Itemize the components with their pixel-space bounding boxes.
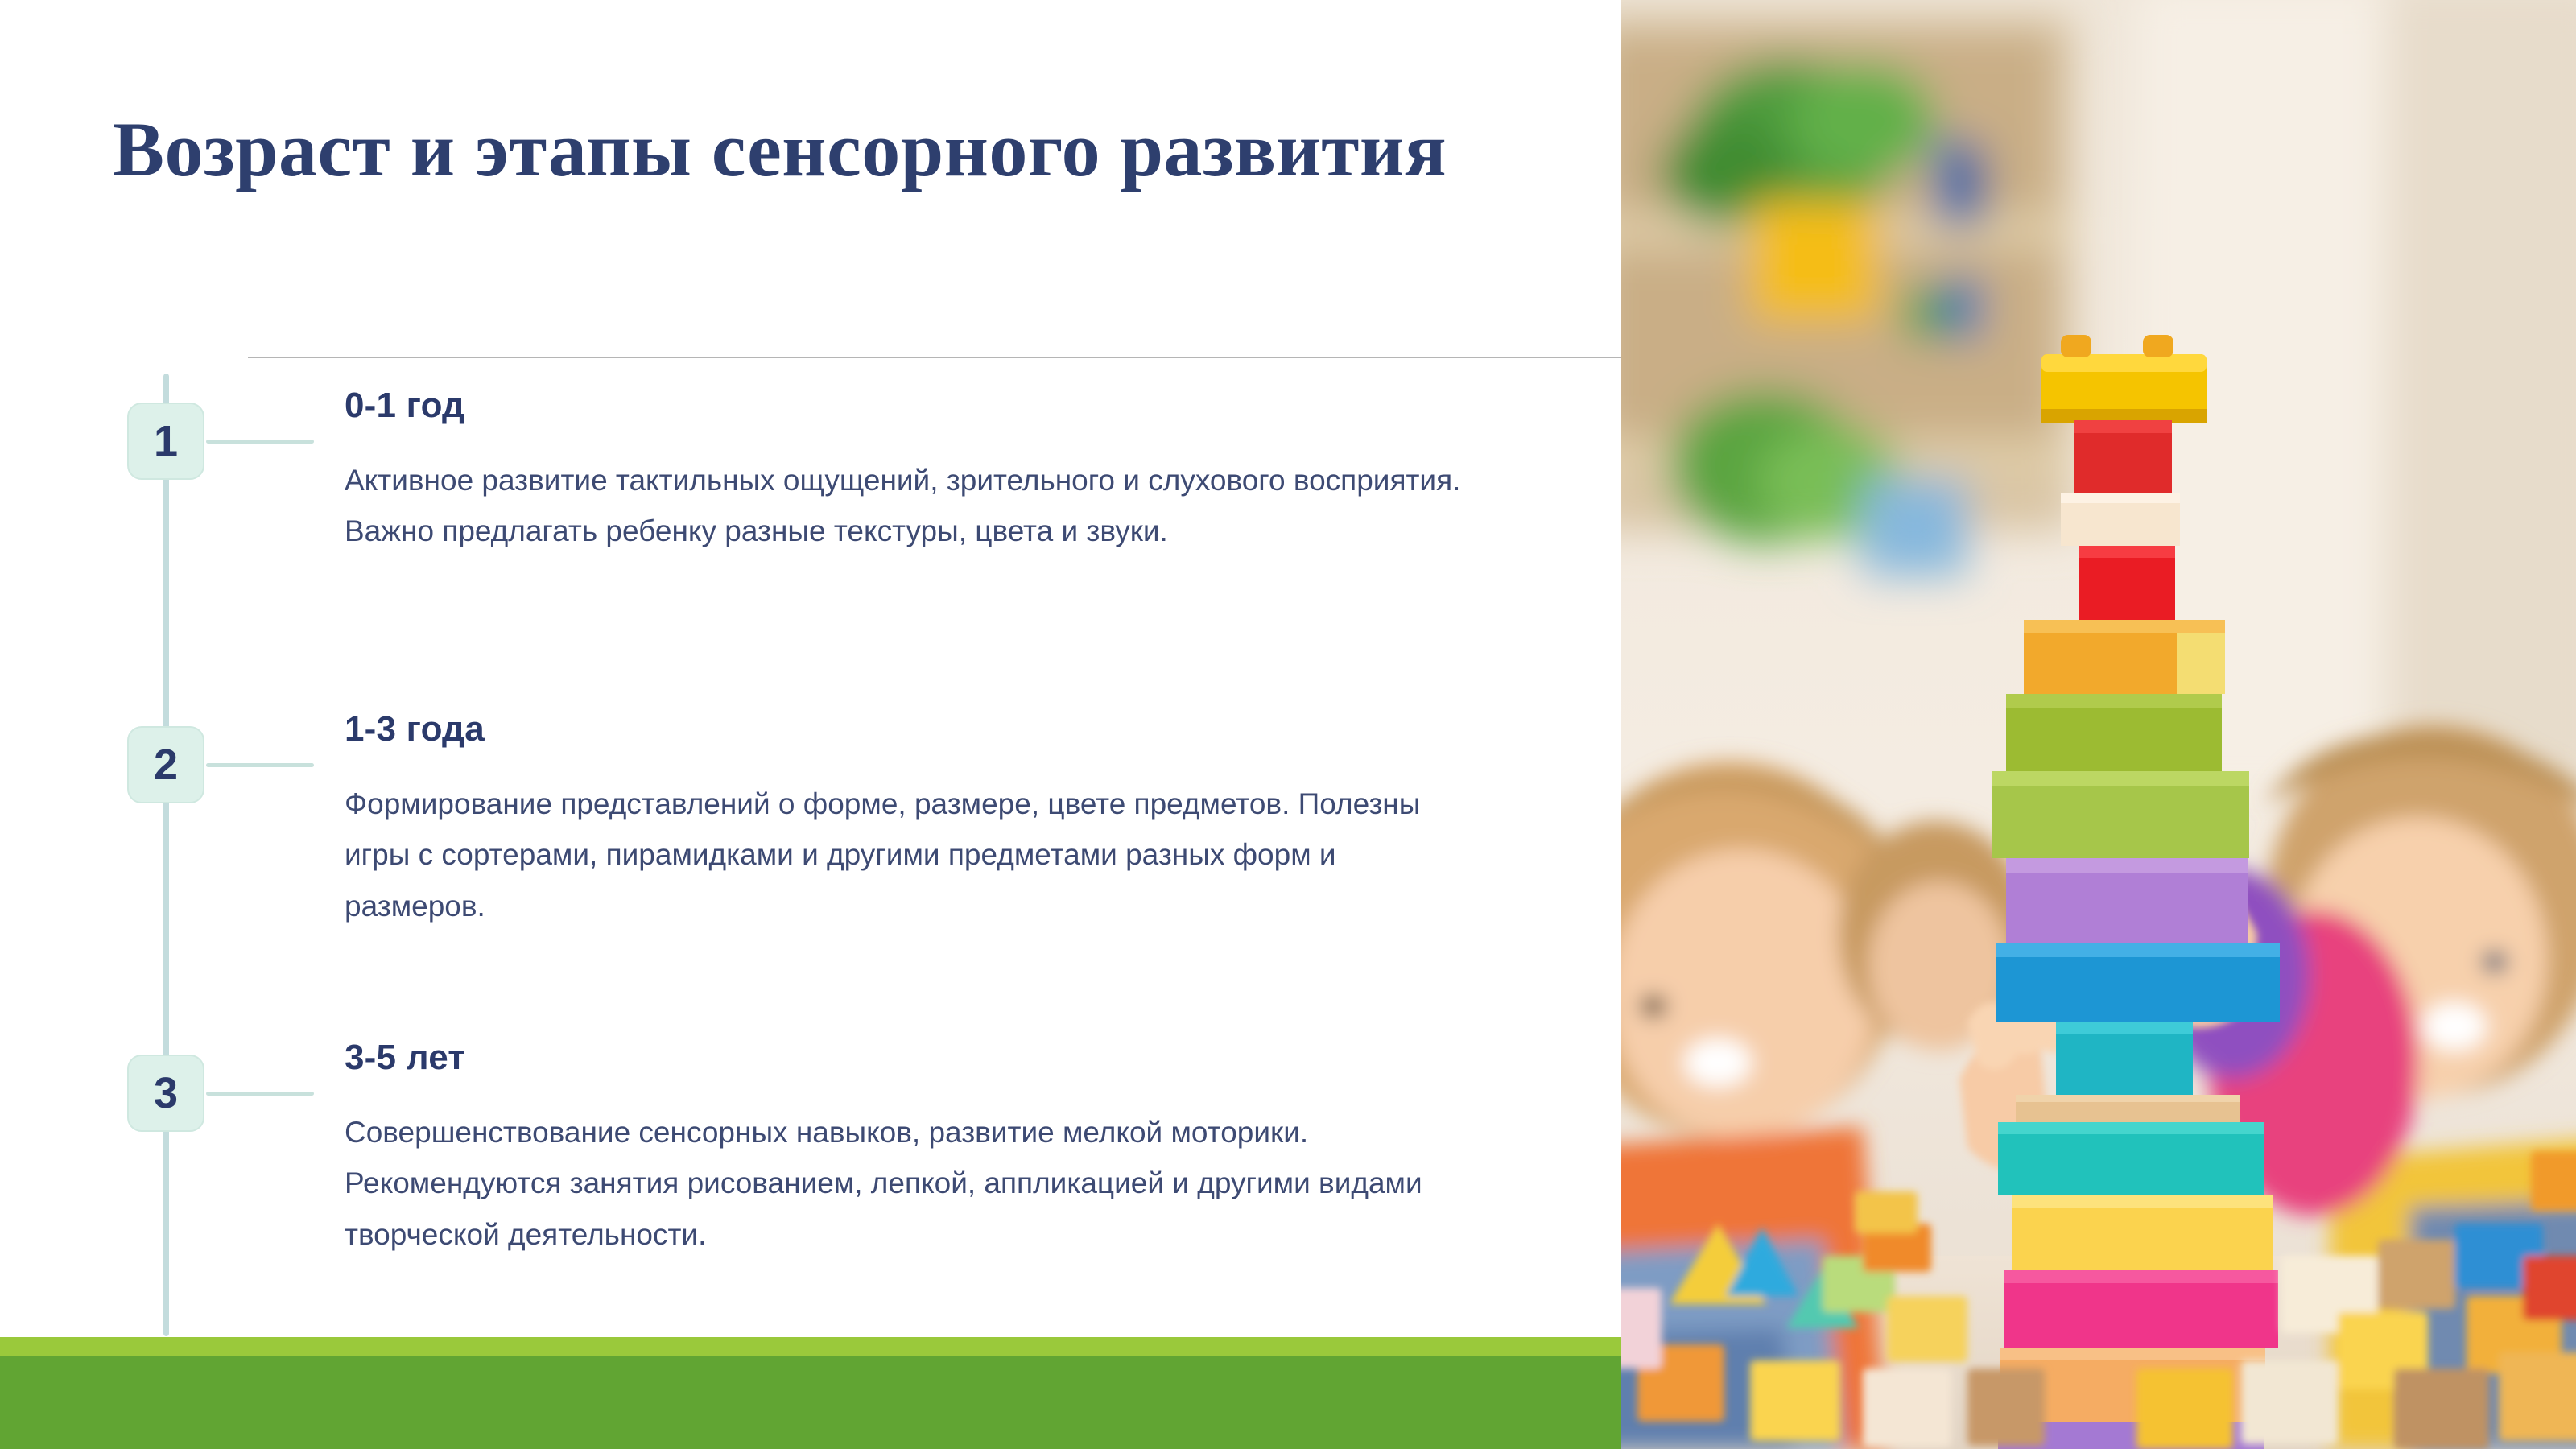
slide-root: Возраст и этапы сенсорного развития 1 0-… (0, 0, 2576, 1449)
step-body: 1-3 года Формирование представлений о фо… (345, 708, 1520, 932)
timeline-axis-line (163, 374, 169, 1336)
step-heading: 3-5 лет (345, 1037, 1520, 1080)
footer-band-light-green (0, 1337, 1621, 1356)
step-connector-line (206, 763, 314, 767)
step-number-label: 2 (154, 743, 178, 786)
step-number-badge[interactable]: 2 (127, 726, 204, 803)
step-heading: 1-3 года (345, 708, 1520, 751)
step-description: Активное развитие тактильных ощущений, з… (345, 455, 1472, 557)
step-description: Формирование представлений о форме, разм… (345, 778, 1472, 932)
step-number-badge[interactable]: 1 (127, 402, 204, 480)
step-number-label: 3 (154, 1071, 178, 1115)
step-connector-line (206, 1092, 314, 1096)
content-panel: Возраст и этапы сенсорного развития 1 0-… (0, 0, 1621, 1449)
step-heading: 0-1 год (345, 385, 1520, 427)
children-blocks-photo (1621, 0, 2576, 1449)
step-description: Совершенствование сенсорных навыков, раз… (345, 1107, 1472, 1261)
step-number-label: 1 (154, 419, 178, 463)
step-body: 0-1 год Активное развитие тактильных ощу… (345, 385, 1520, 557)
step-body: 3-5 лет Совершенствование сенсорных навы… (345, 1037, 1520, 1261)
footer-band-dark-green (0, 1356, 1621, 1449)
step-number-badge[interactable]: 3 (127, 1055, 204, 1132)
page-title: Возраст и этапы сенсорного развития (113, 105, 1497, 194)
step-connector-line (206, 440, 314, 444)
photo-panel (1621, 0, 2576, 1449)
title-divider (248, 357, 1621, 358)
